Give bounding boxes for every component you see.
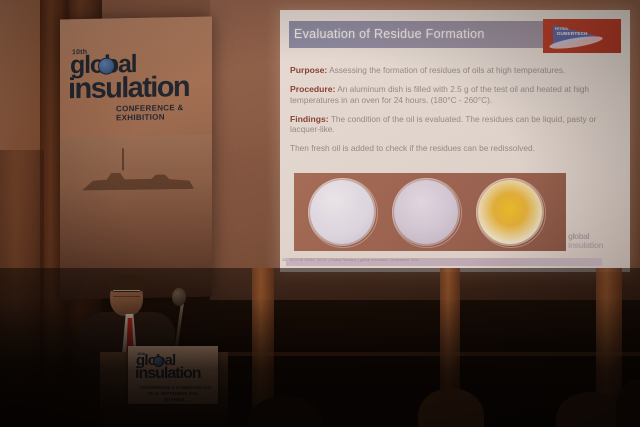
dish-rim: [392, 178, 462, 248]
paragraph-followup: Then fresh oil is added to check if the …: [290, 143, 616, 154]
banner-word-insulation: insulation: [68, 73, 189, 104]
paragraph-procedure: Procedure: An aluminum dish is filled wi…: [290, 84, 616, 105]
conference-photo: Evaluation of Residue Formation PETROL D…: [0, 0, 640, 427]
label-procedure: Procedure:: [290, 84, 335, 94]
slide-footer-text: ROTHE ERDE TECH | Global Residue | globa…: [290, 258, 419, 262]
watermark-line2: insulation: [568, 240, 603, 250]
label-findings: Findings:: [290, 114, 329, 124]
speaker-glasses: [113, 290, 140, 297]
slide-title: Evaluation of Residue Formation: [294, 27, 485, 41]
banner-subtitle: CONFERENCE & EXHIBITION: [116, 103, 212, 123]
text-findings: The condition of the oil is evaluated. T…: [290, 114, 596, 135]
label-purpose: Purpose:: [290, 65, 327, 75]
logo-text: DUBERTECH: [557, 31, 588, 36]
petri-dish-photo-panel: [294, 173, 566, 251]
paragraph-findings: Findings: The condition of the oil is ev…: [290, 114, 616, 135]
text-purpose: Assessing the formation of residues of o…: [327, 65, 565, 75]
dish-rim: [476, 178, 546, 248]
event-banner: 10th global insulation CONFERENCE & EXHI…: [60, 17, 212, 300]
projected-slide: Evaluation of Residue Formation PETROL D…: [280, 10, 630, 272]
floor-shadow: [0, 300, 640, 427]
paragraph-purpose: Purpose: Assessing the formation of resi…: [290, 65, 616, 76]
text-followup: Then fresh oil is added to check if the …: [290, 143, 535, 153]
banner-mast: [122, 148, 124, 170]
slide-page-number: 26: [282, 258, 286, 262]
text-procedure: An aluminum dish is filled with 2.5 g of…: [290, 84, 589, 105]
presenter-logo: PETROL DUBERTECH: [543, 19, 621, 53]
slide-body: Purpose: Assessing the formation of resi…: [290, 57, 616, 160]
dish-rim: [308, 178, 378, 248]
slide-watermark: global insulation: [568, 232, 620, 254]
